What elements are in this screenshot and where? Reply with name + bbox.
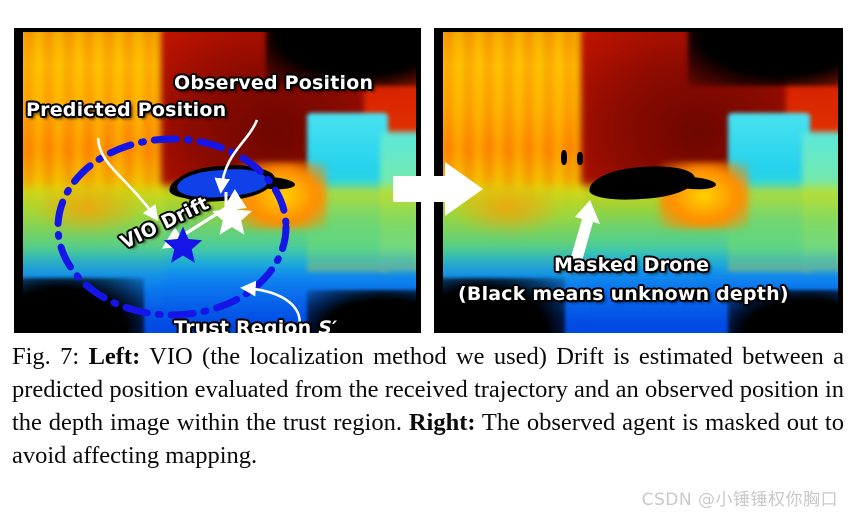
figure-caption: Fig. 7: Left: VIO (the localization meth… xyxy=(12,340,844,472)
masked-drone-label: Masked Drone xyxy=(554,254,709,276)
right-depth-image-panel: Masked Drone (Black means unknown depth) xyxy=(434,28,843,333)
depth-unknown-top-right xyxy=(688,28,843,86)
left-depth-image-panel: Observed Position Predicted Position VIO… xyxy=(14,28,421,333)
trust-region-label: Trust Region S′ xyxy=(174,317,337,333)
transition-right-arrow-icon xyxy=(393,160,485,218)
depth-unknown-top-edge xyxy=(434,28,843,32)
trust-region-label-text: Trust Region xyxy=(174,317,318,333)
figure-container: Observed Position Predicted Position VIO… xyxy=(0,0,856,518)
observed-position-label: Observed Position xyxy=(174,72,373,94)
csdn-watermark: CSDN @小锤锤权你胸口 xyxy=(642,485,838,510)
masked-drone-note-label: (Black means unknown depth) xyxy=(458,283,789,305)
depth-unknown-top-edge xyxy=(14,28,421,32)
predicted-position-label: Predicted Position xyxy=(26,99,226,121)
observed-position-pointer-icon xyxy=(199,116,269,206)
depth-unknown-right-edge xyxy=(838,28,843,333)
depth-unknown-floor-left xyxy=(14,278,144,333)
depth-unknown-left-edge xyxy=(14,28,23,333)
depth-speck-b xyxy=(577,152,583,166)
caption-segment-1: Left: xyxy=(89,343,141,370)
depth-speck-a xyxy=(561,150,568,165)
caption-segment-3: Right: xyxy=(409,409,476,436)
trust-region-symbol: S′ xyxy=(318,317,337,333)
caption-segment-0: Fig. 7: xyxy=(12,343,89,370)
